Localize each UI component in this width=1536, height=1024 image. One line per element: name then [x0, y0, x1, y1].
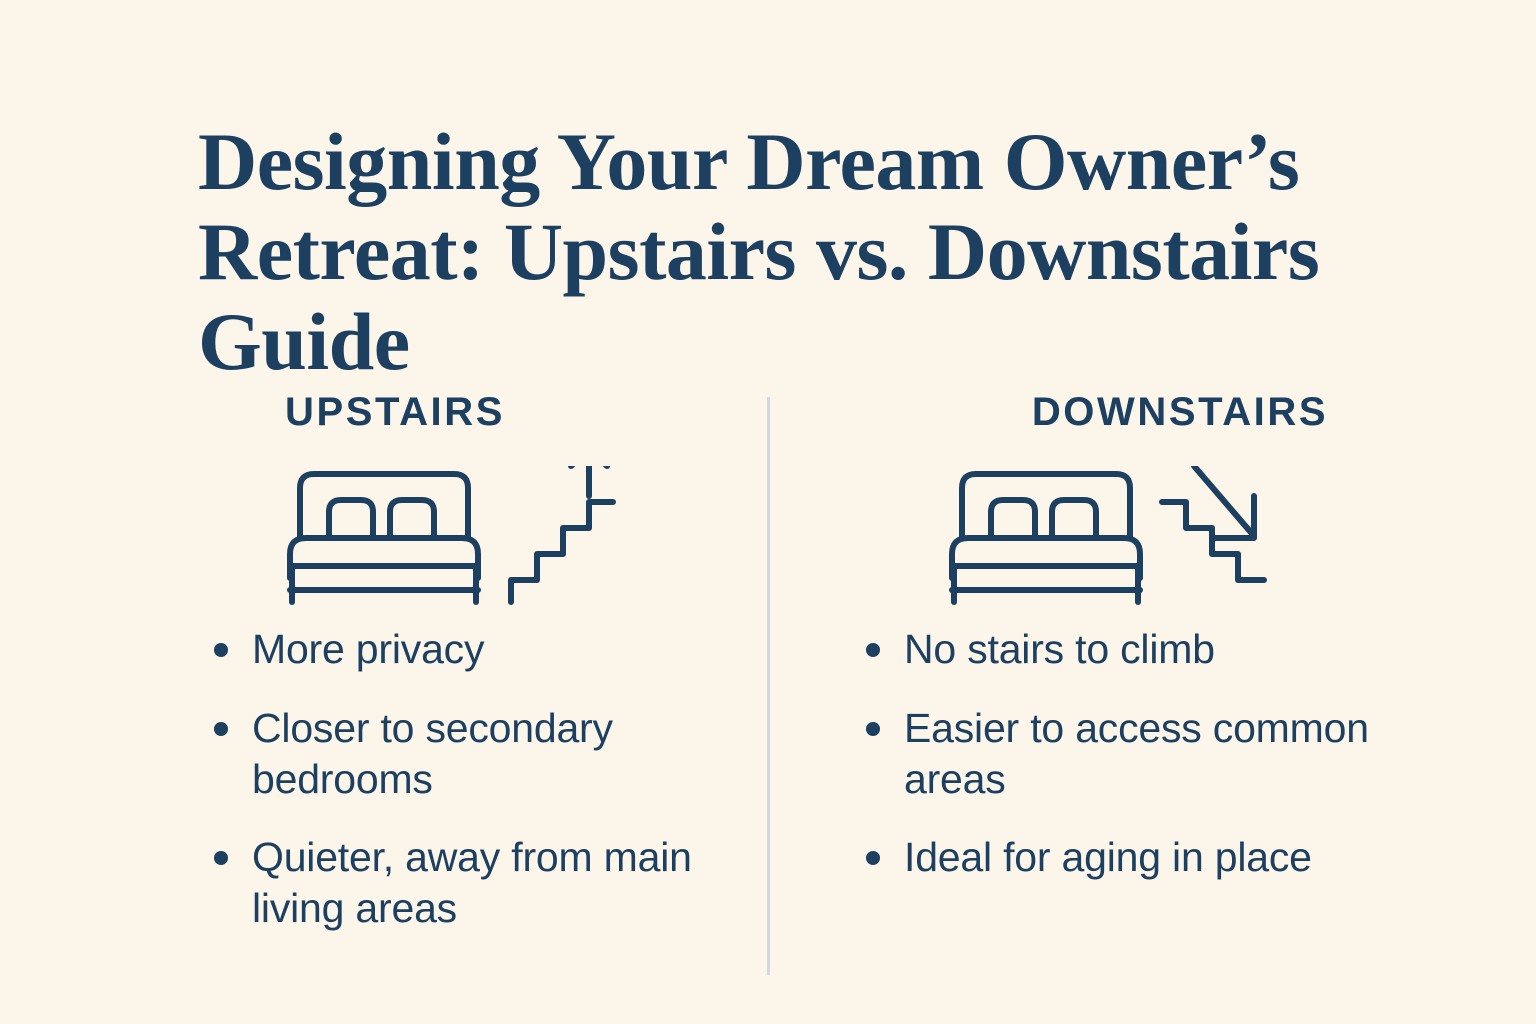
bullet-dot-icon — [866, 643, 880, 657]
list-item: Ideal for aging in place — [850, 832, 1410, 883]
bullet-list-downstairs: No stairs to climb Easier to access comm… — [850, 624, 1410, 911]
list-item-text: Closer to secondary bedrooms — [252, 705, 613, 802]
bed-icon — [948, 466, 1144, 606]
bullet-list-upstairs: More privacy Closer to secondary bedroom… — [198, 624, 758, 962]
icon-row-upstairs — [180, 460, 790, 630]
bullet-dot-icon — [214, 643, 228, 657]
list-item-text: More privacy — [252, 626, 484, 672]
bullet-dot-icon — [866, 851, 880, 865]
list-item: Easier to access common areas — [850, 703, 1410, 805]
bullet-dot-icon — [214, 851, 228, 865]
column-upstairs: UPSTAIRS — [180, 386, 790, 1006]
list-item: No stairs to climb — [850, 624, 1410, 675]
stairs-down-icon — [1158, 466, 1276, 606]
stairs-up-icon — [505, 466, 617, 606]
list-item-text: Ideal for aging in place — [904, 834, 1312, 880]
list-item: More privacy — [198, 624, 758, 675]
bullet-dot-icon — [866, 722, 880, 736]
bullet-dot-icon — [214, 722, 228, 736]
infographic-page: Designing Your Dream Owner’s Retreat: Up… — [0, 0, 1536, 1024]
list-item: Quieter, away from main living areas — [198, 832, 758, 934]
list-item-text: No stairs to climb — [904, 626, 1215, 672]
column-header-upstairs: UPSTAIRS — [180, 386, 790, 438]
list-item-text: Quieter, away from main living areas — [252, 834, 692, 931]
column-header-downstairs: DOWNSTAIRS — [810, 386, 1420, 438]
column-downstairs: DOWNSTAIRS — [810, 386, 1420, 1006]
page-title: Designing Your Dream Owner’s Retreat: Up… — [198, 117, 1398, 388]
icon-row-downstairs — [810, 460, 1420, 630]
list-item-text: Easier to access common areas — [904, 705, 1369, 802]
comparison-columns: UPSTAIRS — [0, 386, 1536, 1006]
bed-icon — [286, 466, 482, 606]
list-item: Closer to secondary bedrooms — [198, 703, 758, 805]
